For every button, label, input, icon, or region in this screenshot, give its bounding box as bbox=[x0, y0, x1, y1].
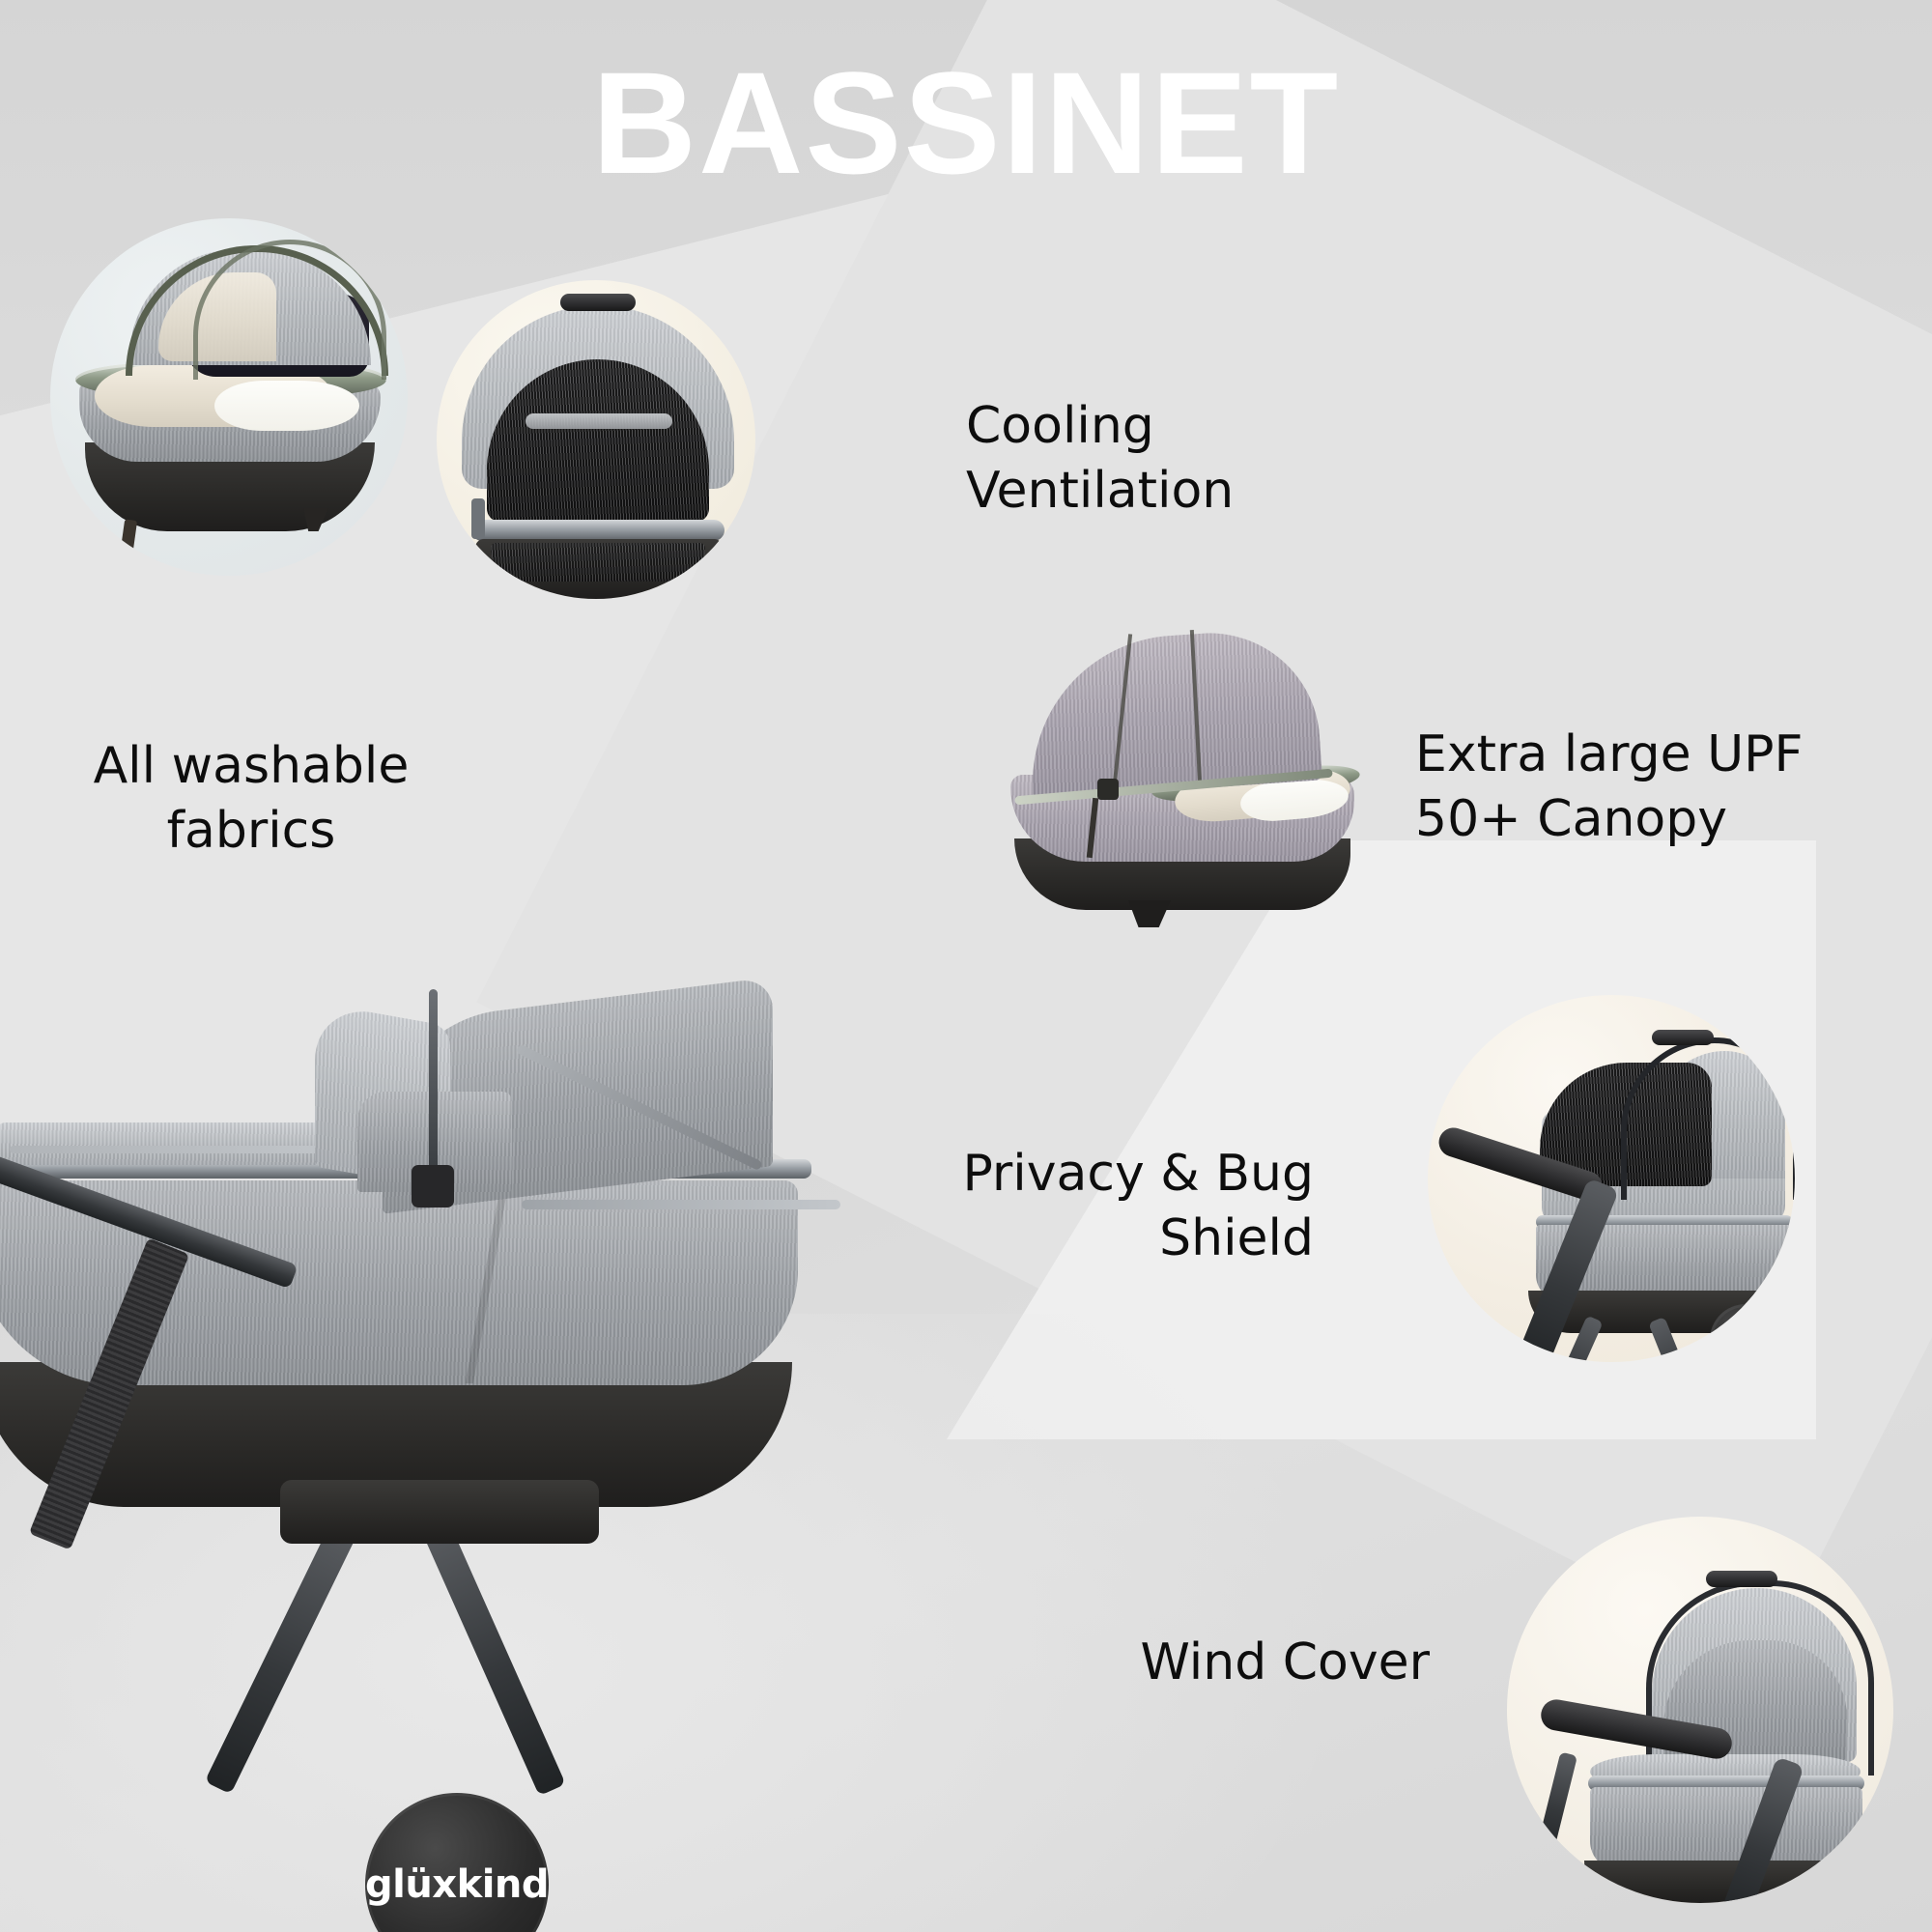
ventilation-rim-bar bbox=[471, 520, 724, 541]
caption-all-washable-fabrics: All washable fabrics bbox=[39, 734, 464, 863]
ventilation-lower-mesh bbox=[491, 543, 705, 582]
caption-extra-large-upf-canopy: Extra large UPF 50+ Canopy bbox=[1415, 723, 1918, 851]
hero-canopy-hinge bbox=[412, 1165, 454, 1207]
feature-image-wind-cover bbox=[1507, 1517, 1893, 1903]
hero-chassis-leg-front bbox=[205, 1521, 357, 1795]
feature-image-all-washable-fabrics bbox=[50, 218, 408, 576]
caption-privacy-bug-shield: Privacy & Bug Shield bbox=[850, 1142, 1314, 1270]
ventilation-inner-bar bbox=[526, 413, 672, 429]
feature-image-cooling-ventilation bbox=[437, 280, 755, 599]
bassinet-product-infographic: BASSINET bbox=[0, 0, 1932, 1932]
windcover-carry-handle bbox=[1706, 1571, 1777, 1587]
windcover-lower-fabric bbox=[1590, 1787, 1862, 1870]
brand-logo-text: glüxkind bbox=[1713, 1331, 1779, 1349]
ventilation-carry-handle bbox=[560, 294, 636, 311]
hero-lower-zipper bbox=[522, 1200, 840, 1209]
hero-chassis-leg-rear bbox=[421, 1520, 565, 1796]
hero-canopy-frame-rib bbox=[429, 989, 438, 1192]
canopy-mount-clip bbox=[1128, 900, 1171, 927]
hero-bassinet-image bbox=[0, 976, 1024, 1932]
hero-chassis-adapter bbox=[280, 1480, 599, 1544]
caption-cooling-ventilation: Cooling Ventilation bbox=[966, 394, 1410, 523]
canopy-zip-hub bbox=[1097, 779, 1119, 800]
feature-image-privacy-bug-shield: glüxkind bbox=[1428, 995, 1795, 1362]
washable-mattress bbox=[214, 381, 359, 431]
feature-image-extra-large-upf-canopy bbox=[1005, 618, 1410, 937]
page-title: BASSINET bbox=[0, 50, 1932, 195]
bugshield-carry-handle bbox=[1652, 1030, 1714, 1045]
ventilation-zipper-pull bbox=[471, 498, 485, 539]
brand-logo-text-main: glüxkind bbox=[365, 1862, 549, 1907]
caption-wind-cover: Wind Cover bbox=[889, 1631, 1430, 1695]
